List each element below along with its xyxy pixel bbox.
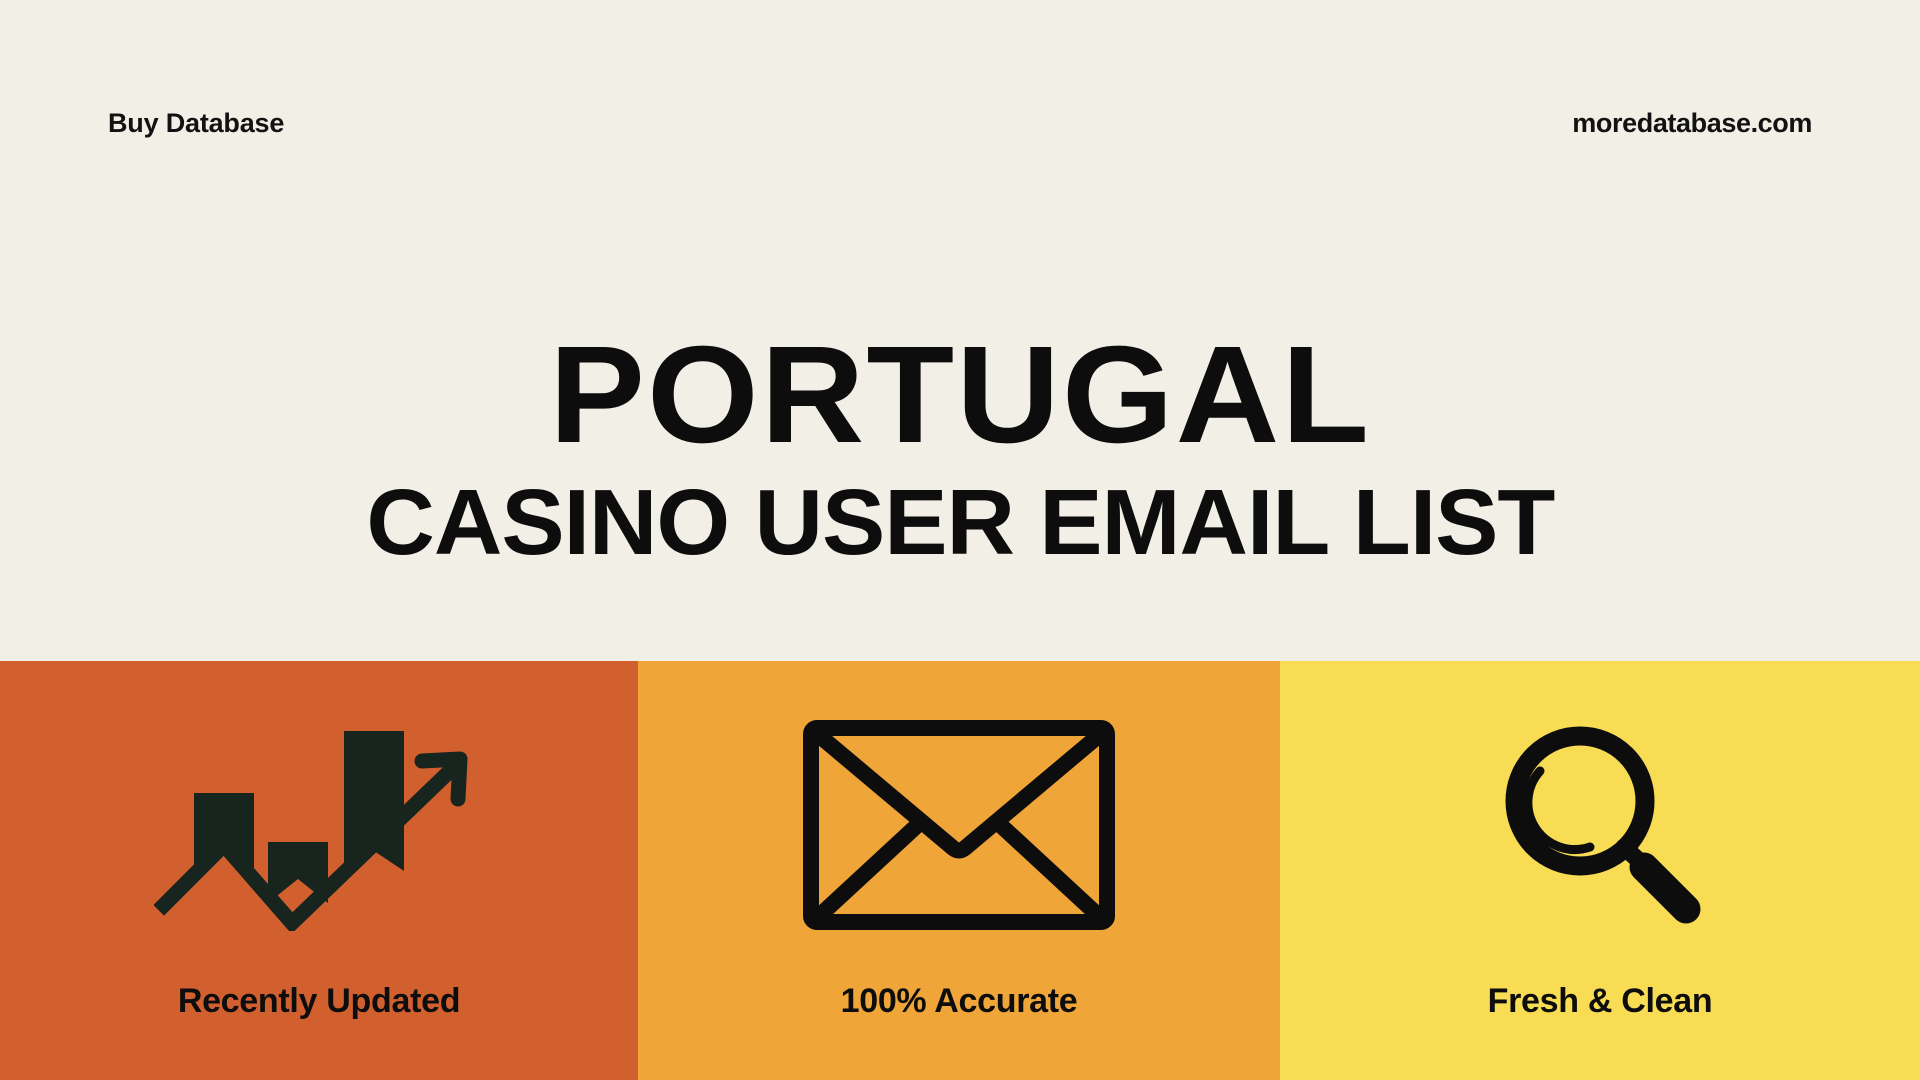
magnifying-glass-icon: [1494, 719, 1706, 931]
page-title: PORTUGAL: [549, 332, 1371, 459]
website-label: moredatabase.com: [1572, 110, 1812, 137]
banner-header: Buy Database moredatabase.com: [0, 0, 1920, 240]
envelope-fold-right: [995, 820, 1101, 918]
feature-label-fresh-clean: Fresh & Clean: [1280, 984, 1920, 1018]
feature-panel-fresh-clean: Fresh & Clean: [1280, 661, 1920, 1080]
promo-banner: Buy Database moredatabase.com PORTUGAL C…: [0, 0, 1920, 1080]
envelope-icon: [803, 719, 1115, 931]
bar-chart-bars: [194, 731, 404, 903]
feature-label-accurate: 100% Accurate: [638, 984, 1280, 1018]
feature-label-recently-updated: Recently Updated: [0, 984, 638, 1018]
feature-panels: Recently Updated 100% Accurate: [0, 661, 1920, 1080]
hero-section: PORTUGAL CASINO USER EMAIL LIST: [0, 240, 1920, 661]
handle-grip: [1644, 867, 1686, 909]
envelope-fold-left: [817, 820, 923, 918]
page-subtitle: CASINO USER EMAIL LIST: [366, 476, 1554, 569]
brand-label: Buy Database: [108, 110, 284, 137]
envelope-flap: [815, 732, 1103, 851]
feature-panel-accurate: 100% Accurate: [638, 661, 1280, 1080]
feature-panel-recently-updated: Recently Updated: [0, 661, 638, 1080]
bar-chart-trend-up-icon: [154, 719, 484, 931]
